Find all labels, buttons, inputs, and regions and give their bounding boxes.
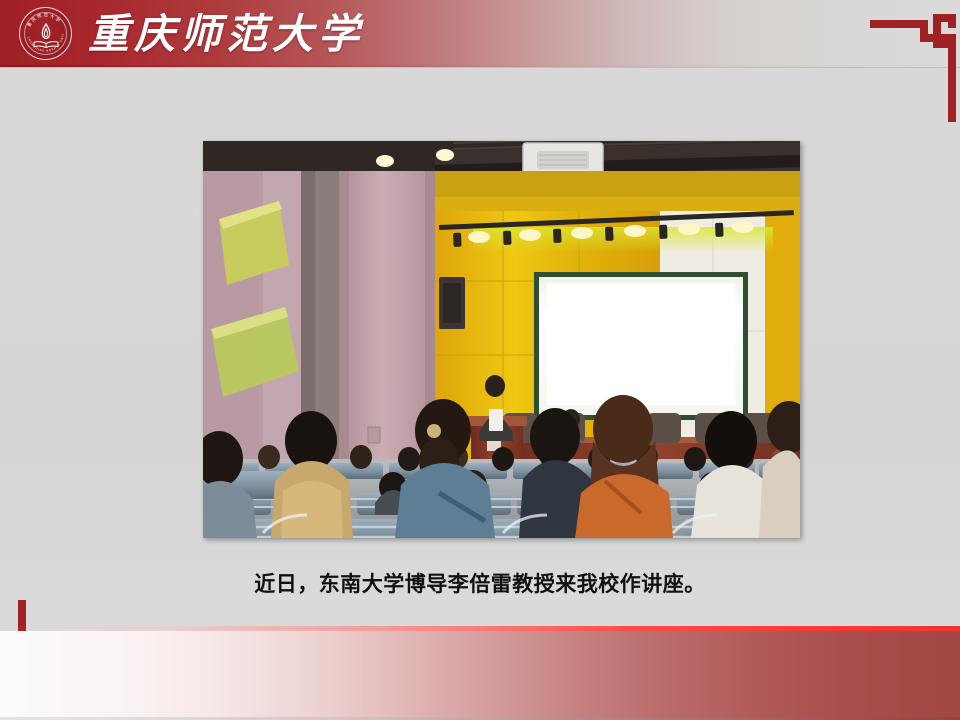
lecture-hall-photo-content — [203, 141, 800, 538]
photo-caption: 近日，东南大学博导李倍雷教授来我校作讲座。 — [0, 568, 960, 598]
presentation-slide: 重庆师范大学 CHONGQING NORMAL UNIVERSITY 重庆师范大… — [0, 0, 960, 720]
seal-book-icon — [33, 41, 59, 48]
university-name: 重庆师范大学 — [88, 6, 364, 62]
footer-gradient-body — [0, 631, 960, 720]
lecture-hall-photo — [203, 141, 800, 538]
top-right-corner-bracket-icon — [870, 10, 960, 122]
footer-decorative-band — [0, 626, 960, 720]
university-seal-logo: 重庆师范大学 CHONGQING NORMAL UNIVERSITY — [19, 7, 72, 60]
